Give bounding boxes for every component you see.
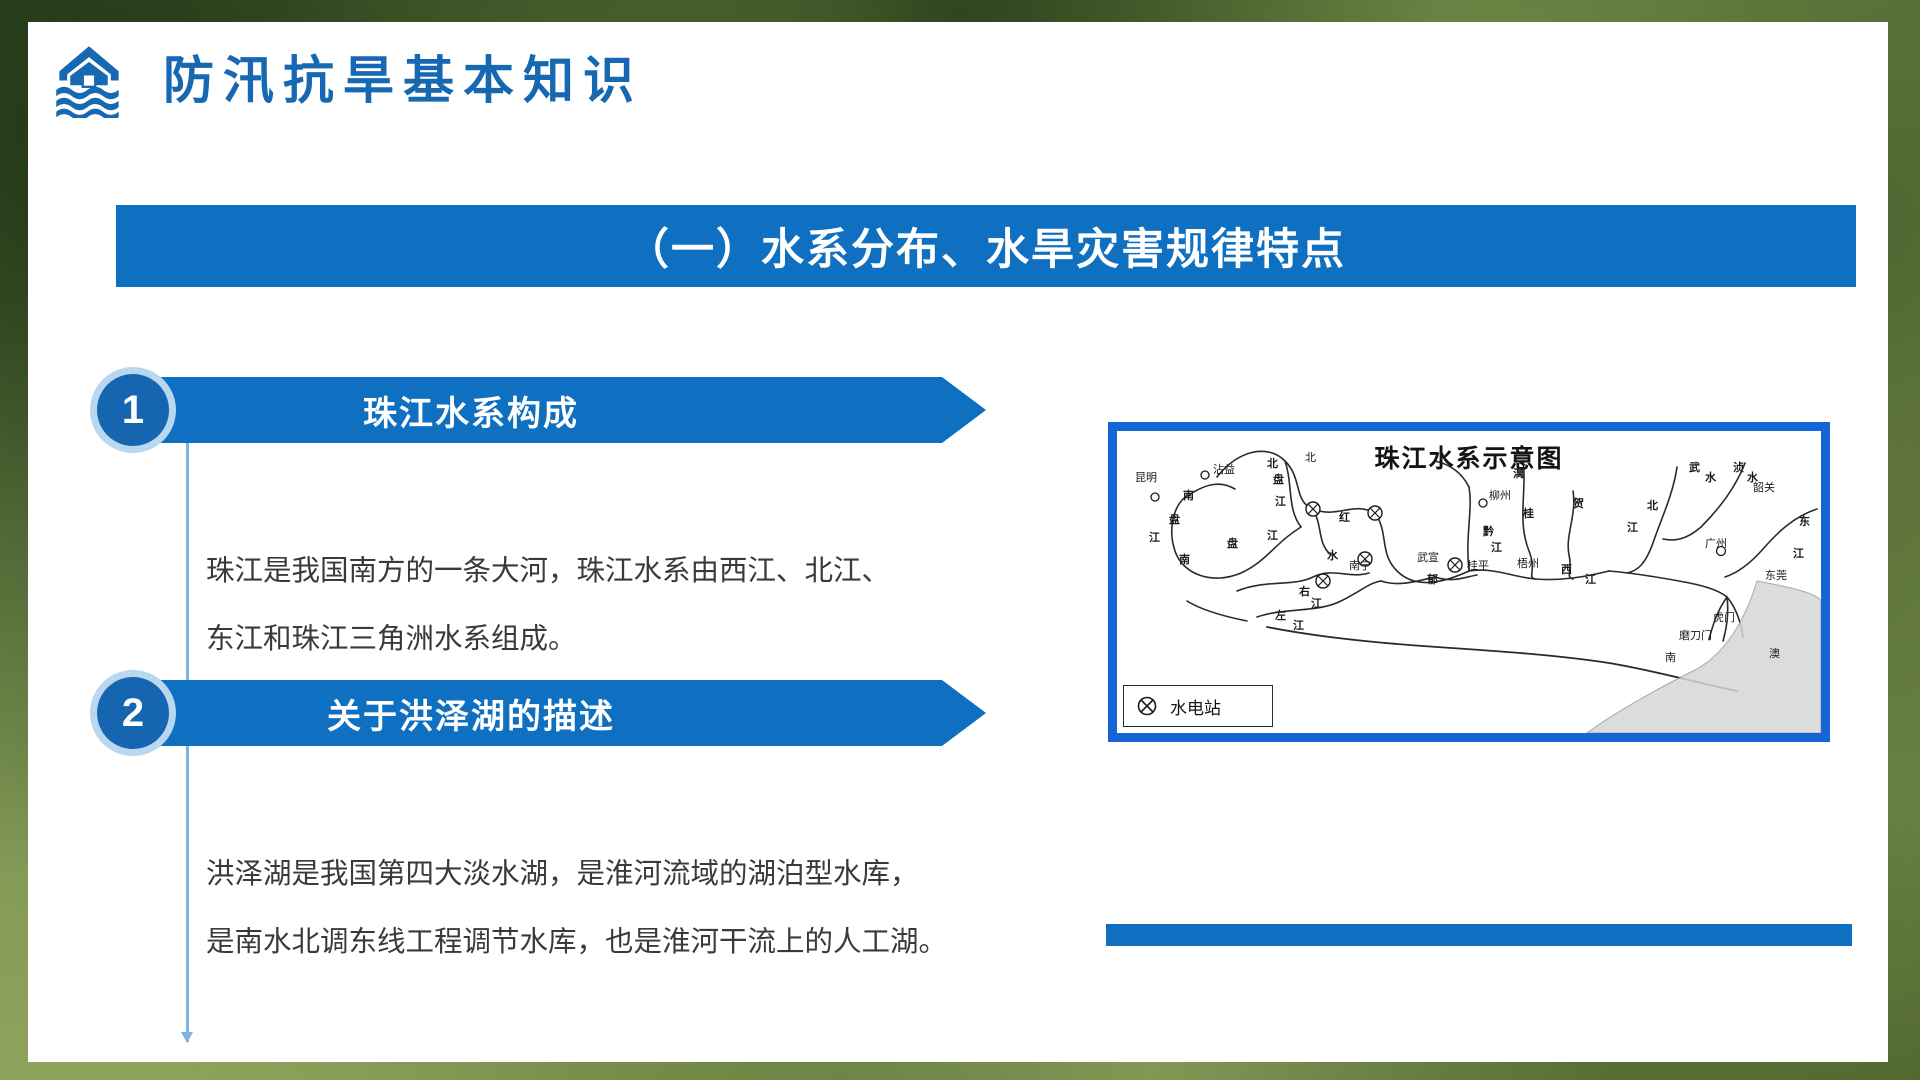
step-1-badge: 1 [97,374,169,446]
step-2-number: 2 [122,693,144,733]
step-2-bar: 关于洪泽湖的描述 [146,680,986,746]
map-city-label: 东莞 [1765,567,1787,583]
map-river-label: 左 [1275,607,1286,623]
map-title: 珠江水系示意图 [1374,439,1563,475]
bottom-accent-bar [1106,924,1852,946]
map-legend: 水电站 [1123,685,1273,727]
step-1-body-line-2: 东江和珠江三角洲水系组成。 [206,605,577,673]
map-river-label: 江 [1149,529,1160,545]
map-city-label: 沾益 [1213,461,1235,477]
map-city-label: 磨刀门 [1679,627,1712,643]
map-river-label: 北 [1267,455,1278,471]
map-river-label: 江 [1293,617,1304,633]
map-city-label: 澳 [1769,645,1780,661]
map-city-label: 南宁 [1349,557,1371,573]
map-river-label: 漓 [1513,465,1524,481]
map-legend-label: 水电站 [1170,694,1221,719]
map-river-label: 江 [1275,493,1286,509]
map-city-label: 南 [1665,649,1676,665]
map-city-label: 昆明 [1135,469,1157,485]
map-river-label: 郁 [1427,571,1438,587]
map-river-label: 北 [1647,497,1658,513]
step-2-body-line-1: 洪泽湖是我国第四大淡水湖，是淮河流域的湖泊型水库， [206,840,919,908]
map-north-marker: 北 [1305,449,1316,465]
map-river-label: 盘 [1227,535,1238,551]
map-river-label: 江 [1627,519,1638,535]
map-river-label: 桂 [1523,505,1534,521]
map-city-label: 梧州 [1517,555,1539,571]
map-river-label: 贺 [1573,495,1584,511]
map-river-label: 黔 [1483,523,1494,539]
map-river-label: 南 [1183,487,1194,503]
hydropower-station-icon [1136,695,1158,717]
map-river-label: 东 [1799,513,1810,529]
map-river-label: 武 [1689,459,1700,475]
step-2-body-line-2: 是南水北调东线工程调节水库，也是淮河干流上的人工湖。 [206,908,947,976]
map-city-label: 桂平 [1467,557,1489,573]
map-river-label: 江 [1793,545,1804,561]
left-content-column: 珠江水系构成 1 珠江是我国南方的一条大河，珠江水系由西江、北江、 东江和珠江三… [28,22,1088,1062]
slide-root: 防汛抗旱基本知识 （一）水系分布、水旱灾害规律特点 珠江水系构成 1 珠江是我国… [0,0,1920,1080]
map-river-label: 水 [1705,469,1716,485]
map-river-label: 盘 [1273,471,1284,487]
step-2-title: 关于洪泽湖的描述 [327,689,615,738]
map-river-label: 江 [1311,595,1322,611]
slide-content-card: 防汛抗旱基本知识 （一）水系分布、水旱灾害规律特点 珠江水系构成 1 珠江是我国… [28,22,1888,1062]
map-river-label: 水 [1747,469,1758,485]
map-river-label: 江 [1491,539,1502,555]
map-river-label: 浈 [1733,459,1744,475]
step-1-title: 珠江水系构成 [363,386,579,435]
map-river-label: 右 [1299,583,1310,599]
map-city-label: 武宣 [1417,549,1439,565]
step-2-badge: 2 [97,677,169,749]
step-1-bar: 珠江水系构成 [146,377,986,443]
map-river-label: 江 [1267,527,1278,543]
river-system-map: 北 珠江水系示意图 昆明 沾益 柳州 韶关 南宁 武宣 桂平 梧州 广州 东莞 … [1108,422,1830,742]
map-city-label: 虎门 [1713,609,1735,625]
step-1-body-line-1: 珠江是我国南方的一条大河，珠江水系由西江、北江、 [206,537,890,605]
map-river-label: 水 [1327,547,1338,563]
map-city-label: 柳州 [1489,487,1511,503]
map-river-label: 西 [1561,561,1572,577]
map-river-label: 江 [1585,571,1596,587]
map-river-label: 盘 [1169,511,1180,527]
map-river-label: 红 [1339,509,1350,525]
map-city-label: 广州 [1705,535,1727,551]
step-1-number: 1 [122,390,144,430]
map-river-label: 南 [1179,551,1190,567]
